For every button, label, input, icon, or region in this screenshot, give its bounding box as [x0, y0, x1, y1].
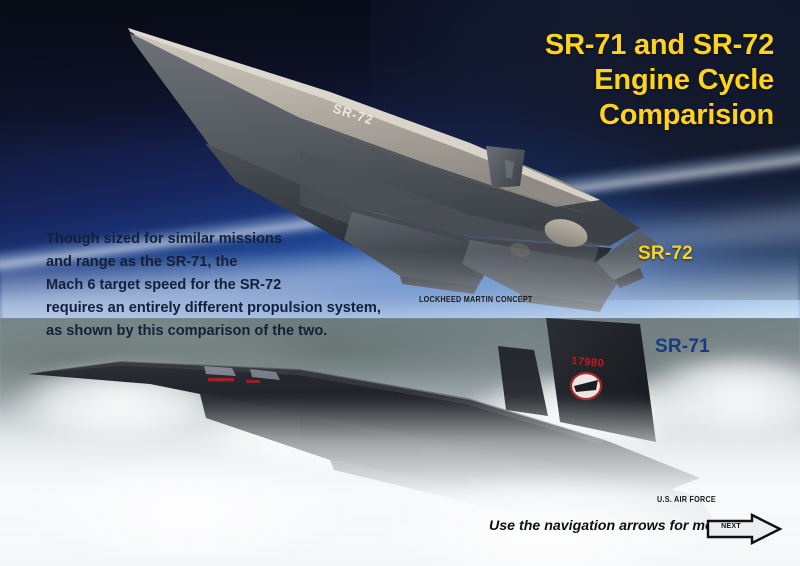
label-sr72: SR-72 — [638, 243, 693, 265]
blurb-line-4: requires an entirely different propulsio… — [46, 297, 406, 320]
blurb-line-5: as shown by this comparison of the two. — [46, 320, 406, 343]
title-line-2: Engine Cycle — [434, 63, 774, 98]
next-arrow-label: NEXT — [714, 523, 748, 530]
page-title: SR-71 and SR-72 Engine Cycle Comparision — [434, 28, 774, 133]
credit-us-air-force: U.S. AIR FORCE — [657, 494, 716, 504]
next-arrow-button[interactable]: NEXT — [706, 513, 786, 545]
label-sr71: SR-71 — [655, 336, 710, 358]
title-line-3: Comparision — [434, 98, 774, 133]
blurb-line-1: Though sized for similar missions — [46, 228, 406, 251]
credit-lockheed-martin: LOCKHEED MARTIN CONCEPT — [419, 294, 533, 304]
sr71-red-stripe — [208, 378, 234, 381]
blurb-line-3: Mach 6 target speed for the SR-72 — [46, 274, 406, 297]
sr71-red-stripe — [246, 380, 260, 383]
blurb-line-2: and range as the SR-71, the — [46, 251, 406, 274]
title-line-1: SR-71 and SR-72 — [434, 28, 774, 63]
infographic-canvas: SR-72 — [0, 0, 800, 566]
description-text: Though sized for similar missions and ra… — [46, 228, 406, 343]
navigation-hint: Use the navigation arrows for more — [489, 518, 727, 534]
